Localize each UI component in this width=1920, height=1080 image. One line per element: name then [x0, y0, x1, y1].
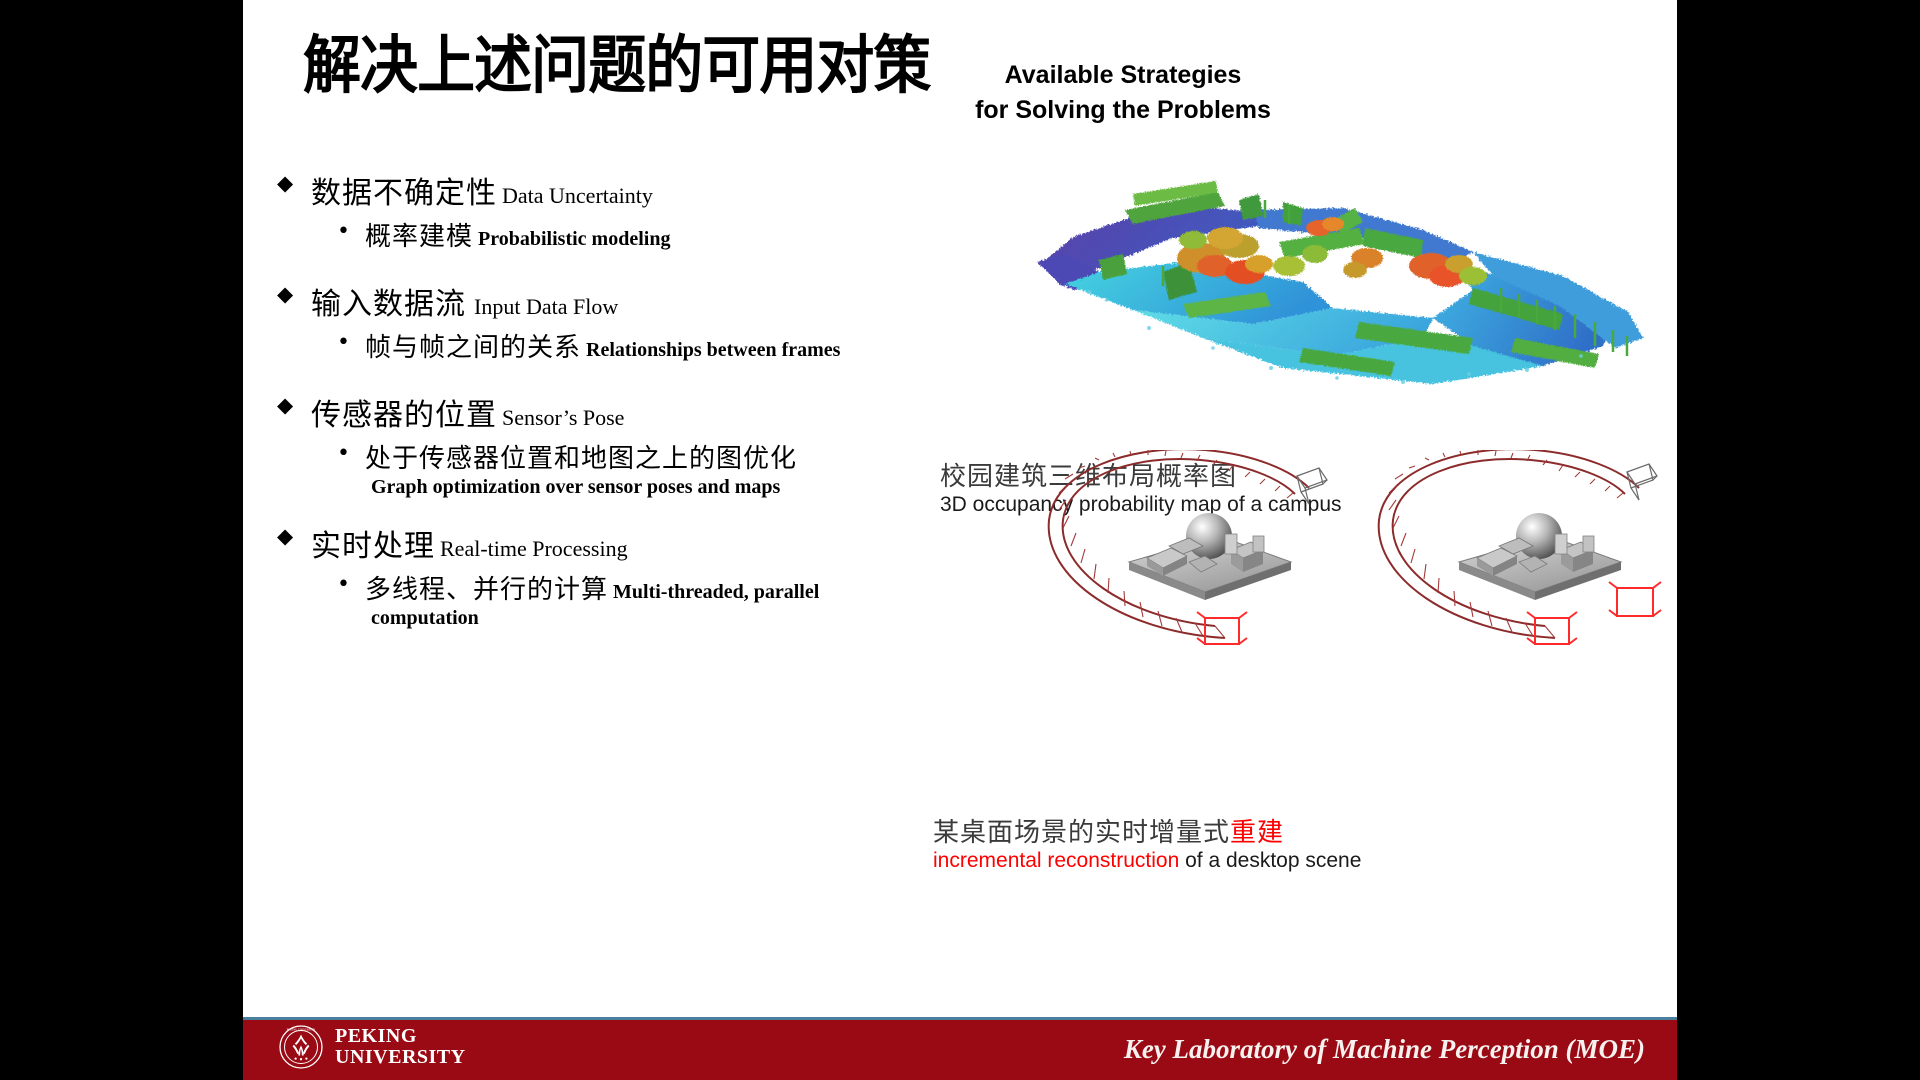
campus-point-cloud-image	[1003, 142, 1663, 387]
desktop-caption-en-rest: of a desktop scene	[1179, 849, 1361, 872]
page-title: 解决上述问题的可用对策	[303, 30, 930, 102]
lab-name-label: Key Laboratory of Machine Perception (MO…	[1124, 1034, 1645, 1065]
sub-item-label-zh: 帧与帧之间的关系	[365, 333, 581, 363]
sub-item-label-zh: 概率建模	[365, 222, 473, 252]
logo-wordmark-line2: UNIVERSITY	[335, 1047, 466, 1068]
list-item-level2: • 多线程、并行的计算Multi-threaded, parallel comp…	[257, 569, 917, 630]
round-bullet-icon: •	[337, 440, 350, 468]
page-title-english-line2: for Solving the Problems	[933, 93, 1313, 128]
list-item-level2: • 处于传感器位置和地图之上的图优化 Graph optimization ov…	[257, 438, 917, 499]
bullet-list: ◆ 数据不确定性Data Uncertainty • 概率建模Probabili…	[257, 168, 917, 632]
desktop-figure-caption: 某桌面场景的实时增量式重建 incremental reconstruction…	[933, 812, 1361, 873]
footer-accent-line	[243, 1017, 1677, 1020]
list-item-label-zh: 传感器的位置	[311, 398, 497, 433]
list-item-label-zh: 实时处理	[311, 529, 435, 564]
diamond-bullet-icon: ◆	[277, 284, 293, 305]
svg-text:PEKING UNIVERSITY: PEKING UNIVERSITY	[287, 1028, 317, 1032]
sub-item-label-en-continued: computation	[371, 607, 917, 630]
desktop-reconstruction-figure	[1019, 450, 1677, 660]
list-item-label-en: Input Data Flow	[474, 294, 618, 319]
sub-item-label-en: Multi-threaded, parallel	[613, 581, 819, 603]
page-title-english-line1: Available Strategies	[933, 58, 1313, 93]
desktop-reconstruction-image	[1019, 450, 1677, 660]
logo-wordmark-line1: PEKING	[335, 1026, 466, 1047]
diamond-bullet-icon: ◆	[277, 395, 293, 416]
list-item-label-en: Sensor’s Pose	[502, 405, 624, 430]
desktop-caption-en: incremental reconstruction of a desktop …	[933, 849, 1361, 873]
diamond-bullet-icon: ◆	[277, 173, 293, 194]
diamond-bullet-icon: ◆	[277, 526, 293, 547]
desktop-caption-zh: 某桌面场景的实时增量式重建	[933, 812, 1361, 849]
list-item-label-zh: 输入数据流	[311, 287, 466, 322]
list-item-level1: ◆ 数据不确定性Data Uncertainty	[257, 168, 917, 212]
round-bullet-icon: •	[337, 329, 350, 357]
list-item-level1: ◆ 实时处理Real-time Processing	[257, 521, 917, 565]
slide-footer: PEKING UNIVERSITY PEKING UNIVERSITY Key …	[243, 1017, 1677, 1080]
list-item-level1: ◆ 传感器的位置Sensor’s Pose	[257, 390, 917, 434]
list-item-level2: • 帧与帧之间的关系Relationships between frames	[257, 327, 917, 364]
logo-wordmark: PEKING UNIVERSITY	[335, 1026, 466, 1068]
sub-item-label-zh: 处于传感器位置和地图之上的图优化	[365, 444, 797, 474]
list-item-level2: • 概率建模Probabilistic modeling	[257, 216, 917, 253]
round-bullet-icon: •	[337, 571, 350, 599]
presentation-slide: 解决上述问题的可用对策 Available Strategies for Sol…	[243, 0, 1677, 1080]
page-title-english: Available Strategies for Solving the Pro…	[933, 58, 1313, 127]
peking-university-logo: PEKING UNIVERSITY PEKING UNIVERSITY	[279, 1025, 466, 1069]
sub-item-label-en: Probabilistic modeling	[478, 228, 670, 250]
sub-item-label-en-continued: Graph optimization over sensor poses and…	[371, 476, 917, 499]
desktop-caption-zh-plain: 某桌面场景的实时增量式	[933, 818, 1230, 848]
screen: 解决上述问题的可用对策 Available Strategies for Sol…	[0, 0, 1920, 1080]
list-item-label-zh: 数据不确定性	[311, 176, 497, 211]
list-item-label-en: Data Uncertainty	[502, 183, 653, 208]
desktop-caption-en-highlight: incremental reconstruction	[933, 849, 1179, 872]
list-item-level1: ◆ 输入数据流Input Data Flow	[257, 279, 917, 323]
campus-point-cloud-figure	[1003, 142, 1663, 387]
round-bullet-icon: •	[337, 218, 350, 246]
sub-item-label-zh: 多线程、并行的计算	[365, 575, 608, 605]
desktop-caption-zh-highlight: 重建	[1230, 818, 1284, 848]
peking-university-seal-icon: PEKING UNIVERSITY	[279, 1025, 323, 1069]
list-item-label-en: Real-time Processing	[440, 536, 628, 561]
sub-item-label-en: Relationships between frames	[586, 339, 840, 361]
